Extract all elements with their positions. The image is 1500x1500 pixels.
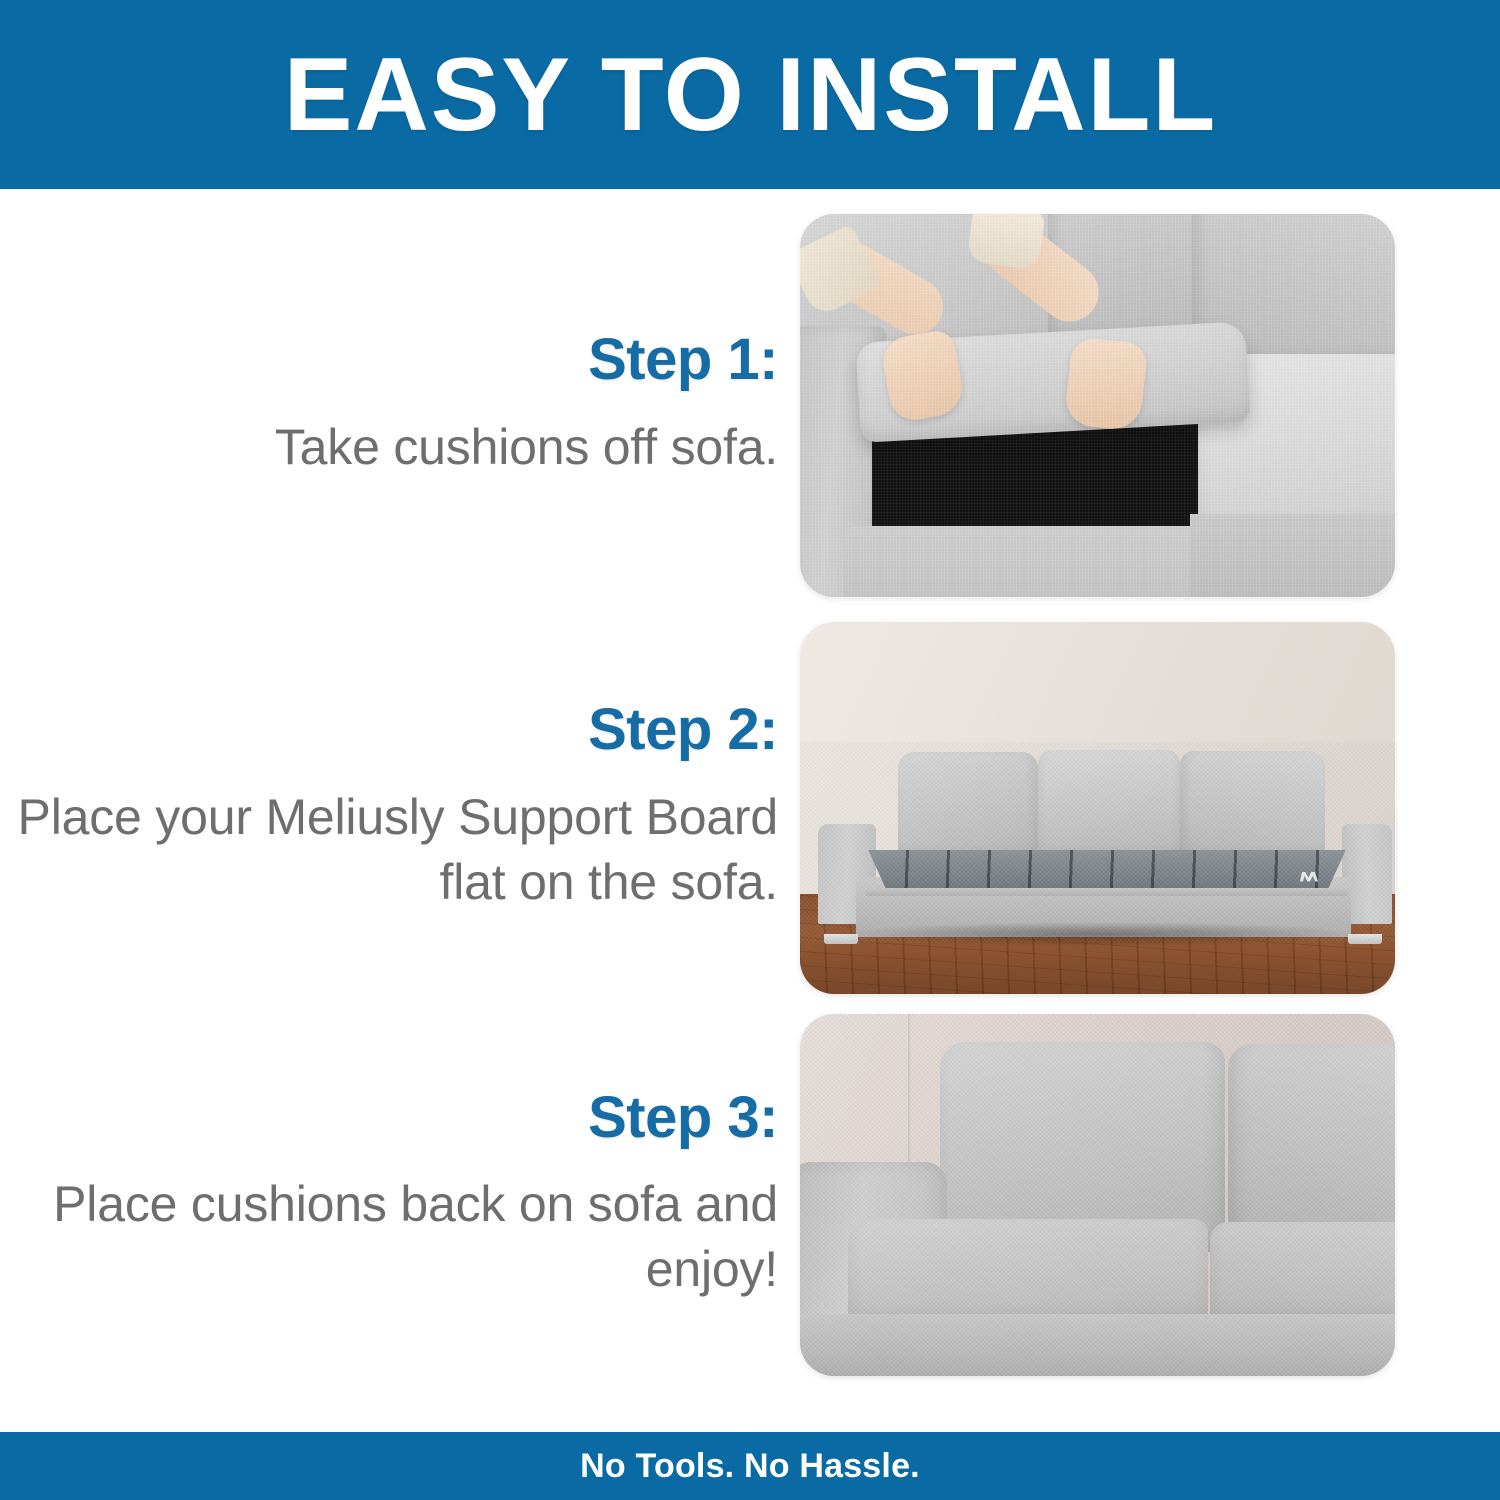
step-1-body: Take cushions off sofa. [0, 415, 778, 480]
step-3-text-block: Step 3: Place cushions back on sofa and … [0, 1088, 800, 1303]
step-row-1: Step 1: Take cushions off sofa. [0, 210, 1465, 600]
step-row-3: Step 3: Place cushions back on sofa and … [0, 1015, 1465, 1375]
install-instructions-infographic: EASY TO INSTALL Step 1: Take cushions of… [0, 0, 1500, 1500]
sofa-back-cushion-right [1228, 1044, 1395, 1252]
step-1-illustration [800, 214, 1395, 597]
sofa-seat-cushion-left [848, 1219, 1208, 1324]
step-2-body: Place your Meliusly Support Board flat o… [0, 785, 778, 915]
step-row-2: Step 2: Place your Meliusly Support Boar… [0, 620, 1465, 995]
header-banner: EASY TO INSTALL [0, 0, 1500, 189]
step-1-heading: Step 1: [0, 330, 778, 391]
step-3-body: Place cushions back on sofa and enjoy! [0, 1172, 778, 1302]
step-1-photo [800, 214, 1395, 597]
step-3-heading: Step 3: [0, 1088, 778, 1149]
sofa-leg-left [824, 934, 858, 944]
support-board-front-edge [866, 888, 1348, 896]
step-3-photo [800, 1014, 1395, 1376]
sofa-seat-base-right [1190, 514, 1395, 597]
footer-banner: No Tools. No Hassle. [0, 1432, 1500, 1500]
sofa-leg-right [1348, 934, 1382, 944]
sofa-back-cushion-right [1180, 751, 1325, 856]
support-board-slats [868, 850, 1346, 892]
step-3-illustration [800, 1014, 1395, 1376]
right-hand [1064, 336, 1149, 431]
sofa-base [800, 1314, 1395, 1376]
step-1-text-block: Step 1: Take cushions off sofa. [0, 330, 800, 480]
step-2-text-block: Step 2: Place your Meliusly Support Boar… [0, 700, 800, 915]
step-2-photo [800, 622, 1395, 994]
step-2-heading: Step 2: [0, 700, 778, 761]
footer-tagline: No Tools. No Hassle. [580, 1447, 920, 1486]
sofa-seat-cushion-right [1210, 1222, 1395, 1324]
sofa-back-cushion-left [898, 752, 1038, 856]
sofa-back-cushion-middle [1038, 750, 1180, 856]
page-title: EASY TO INSTALL [283, 43, 1217, 147]
step-2-illustration [800, 622, 1395, 994]
